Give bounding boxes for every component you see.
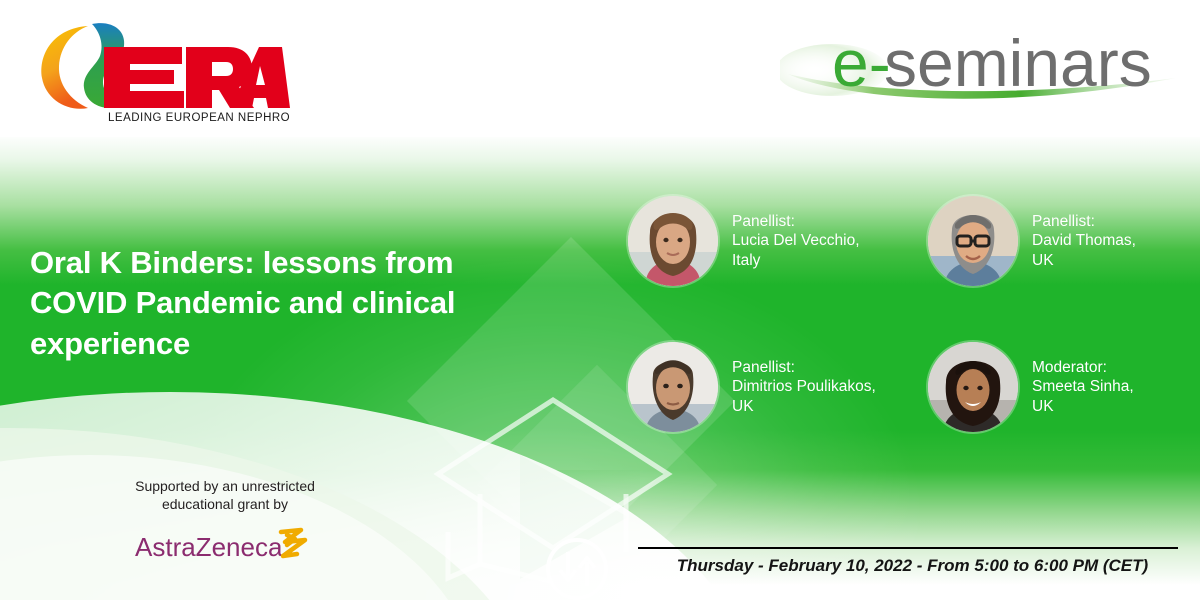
speakers-list: Panellist: Lucia Del Vecchio, Italy [620, 196, 1200, 466]
list-item-speaker-3: Panellist: Dimitrios Poulikakos, UK [628, 342, 876, 432]
list-item-speaker-4: Moderator: Smeeta Sinha, UK [928, 342, 1134, 432]
eseminars-prefix: e- [832, 26, 891, 100]
speaker-label: Panellist: Dimitrios Poulikakos, UK [732, 358, 876, 415]
avatar-dimitrios-poulikakos [628, 342, 718, 432]
date-line: Thursday - February 10, 2022 - From 5:00… [640, 556, 1185, 576]
era-tagline: LEADING EUROPEAN NEPHROLOGY [108, 112, 290, 124]
exchange-arrows-icon [540, 532, 614, 600]
astrazeneca-wordmark: AstraZeneca [135, 532, 283, 562]
avatar-david-thomas [928, 196, 1018, 286]
eseminars-logo[interactable]: e- seminars [780, 18, 1180, 118]
avatar-lucia-del-vecchio [628, 196, 718, 286]
sponsor-block: Supported by an unrestricted educational… [60, 478, 390, 566]
avatar-smeeta-sinha [928, 342, 1018, 432]
eseminars-suffix: seminars [884, 26, 1152, 100]
webinar-banner: LEADING EUROPEAN NEPHROLOGY [0, 0, 1200, 600]
speaker-label: Panellist: David Thomas, UK [1032, 212, 1136, 269]
astrazeneca-logo[interactable]: AstraZeneca [135, 526, 315, 566]
sponsor-text: Supported by an unrestricted educational… [60, 478, 390, 514]
list-item-speaker-2: Panellist: David Thomas, UK [928, 196, 1136, 286]
page-title: Oral K Binders: lessons from COVID Pande… [30, 243, 550, 364]
date-divider [638, 547, 1178, 549]
era-logo[interactable]: LEADING EUROPEAN NEPHROLOGY [30, 14, 290, 124]
list-item-speaker-1: Panellist: Lucia Del Vecchio, Italy [628, 196, 860, 286]
speaker-label: Panellist: Lucia Del Vecchio, Italy [732, 212, 860, 269]
header-bar: LEADING EUROPEAN NEPHROLOGY [0, 0, 1200, 137]
speaker-label: Moderator: Smeeta Sinha, UK [1032, 358, 1134, 415]
